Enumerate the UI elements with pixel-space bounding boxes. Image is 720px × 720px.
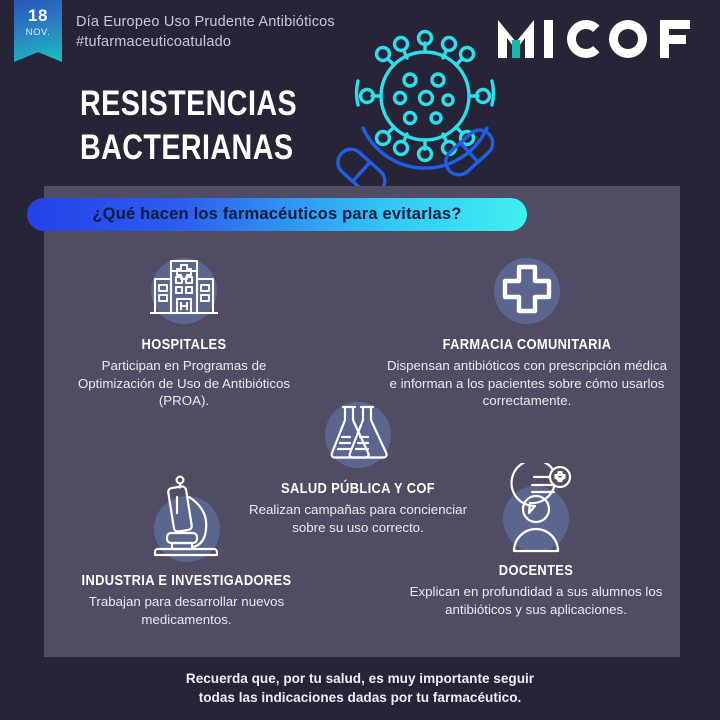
teacher-person-speech-icon (490, 463, 582, 557)
question-banner-text: ¿Qué hacen los farmacéuticos para evitar… (92, 205, 461, 224)
question-banner: ¿Qué hacen los farmacéuticos para evitar… (27, 198, 527, 231)
microscope-icon (144, 471, 230, 567)
pharmacy-cross-icon (489, 251, 565, 327)
badge-day: 18 (28, 7, 48, 24)
hospital-icon-wrap (73, 246, 295, 332)
tagline-line-2: #tufarmaceuticoatulado (76, 32, 335, 52)
item-industria-investigadores: INDUSTRIA E INVESTIGADORES Trabajan para… (48, 470, 325, 628)
page-title: RESISTENCIAS BACTERIANAS (80, 82, 345, 170)
date-badge: 18 NOV. (14, 0, 62, 62)
item-description: Explican en profundidad a sus alumnos lo… (392, 583, 680, 618)
teacher-icon-wrap (392, 462, 680, 558)
item-description: Trabajan para desarrollar nuevos medicam… (48, 593, 325, 628)
microscope-icon-wrap (48, 470, 325, 568)
item-farmacia-comunitaria: FARMACIA COMUNITARIA Dispensan antibióti… (383, 246, 671, 410)
item-hospitales: HOSPITALES Participan en Programas de Op… (73, 246, 295, 410)
item-docentes: DOCENTES Explican en profundidad a sus a… (392, 462, 680, 618)
header-tagline: Día Europeo Uso Prudente Antibióticos #t… (76, 12, 335, 52)
hospital-building-icon (146, 251, 222, 327)
micof-logo: MICOF (494, 16, 694, 60)
item-title: HOSPITALES (89, 336, 280, 353)
footer-note: Recuerda que, por tu salud, es muy impor… (0, 669, 720, 707)
virus-and-pills-icon (330, 18, 520, 190)
pharmacy-icon-wrap (383, 246, 671, 332)
badge-month: NOV. (26, 27, 51, 38)
item-title: DOCENTES (412, 562, 660, 579)
footer-line-2: todas las indicaciones dadas por tu farm… (0, 688, 720, 707)
micof-logo-mark (494, 16, 694, 60)
footer-line-1: Recuerda que, por tu salud, es muy impor… (0, 669, 720, 688)
laboratory-flasks-icon (320, 395, 396, 471)
tagline-line-1: Día Europeo Uso Prudente Antibióticos (76, 12, 335, 32)
title-line-1: RESISTENCIAS (80, 82, 297, 126)
title-line-2: BACTERIANAS (80, 126, 297, 170)
item-title: INDUSTRIA E INVESTIGADORES (67, 572, 305, 589)
item-title: FARMACIA COMUNITARIA (403, 336, 651, 353)
